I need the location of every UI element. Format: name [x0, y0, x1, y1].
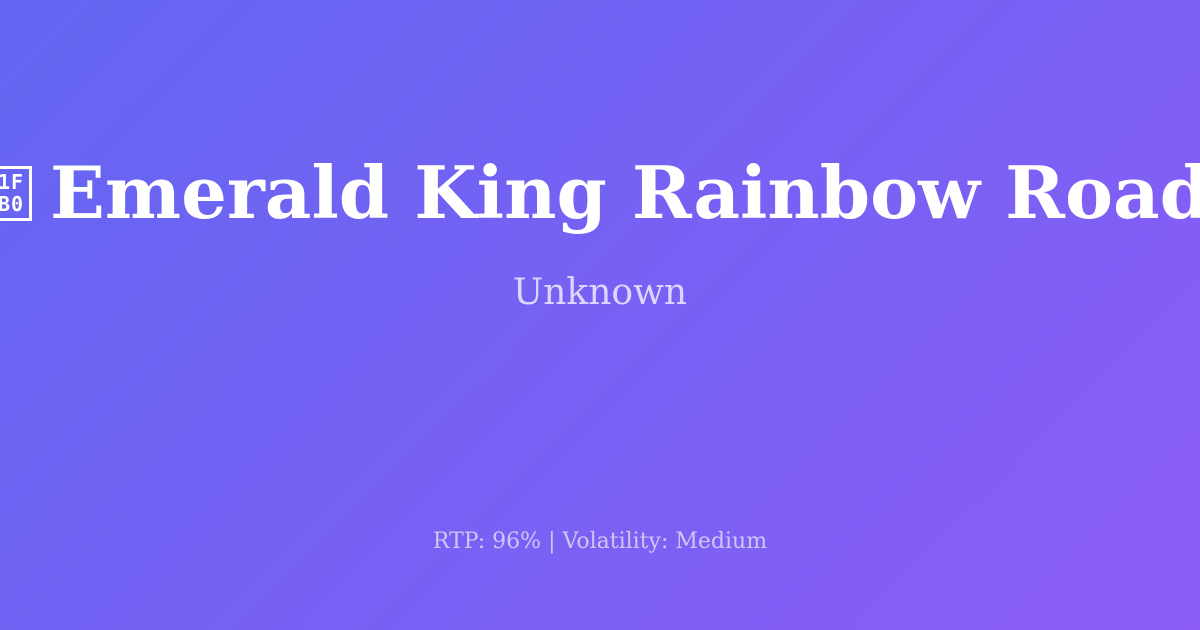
tofu-codepoint-top: 1F	[0, 171, 24, 193]
page-title-text: Emerald King Rainbow Road	[50, 157, 1200, 229]
page-subtitle: Unknown	[513, 273, 687, 313]
tofu-codepoint-bottom: B0	[0, 193, 24, 215]
page-title-inner: 1F B0 Emerald King Rainbow Road	[0, 157, 1200, 229]
game-meta-line: RTP: 96% | Volatility: Medium	[0, 528, 1200, 556]
game-og-card: 1F B0 Emerald King Rainbow Road Unknown …	[0, 0, 1200, 630]
page-title: 1F B0 Emerald King Rainbow Road	[0, 157, 1200, 229]
slot-machine-emoji-icon: 1F B0	[0, 166, 32, 221]
title-zone: 1F B0 Emerald King Rainbow Road Unknown	[0, 0, 1200, 470]
